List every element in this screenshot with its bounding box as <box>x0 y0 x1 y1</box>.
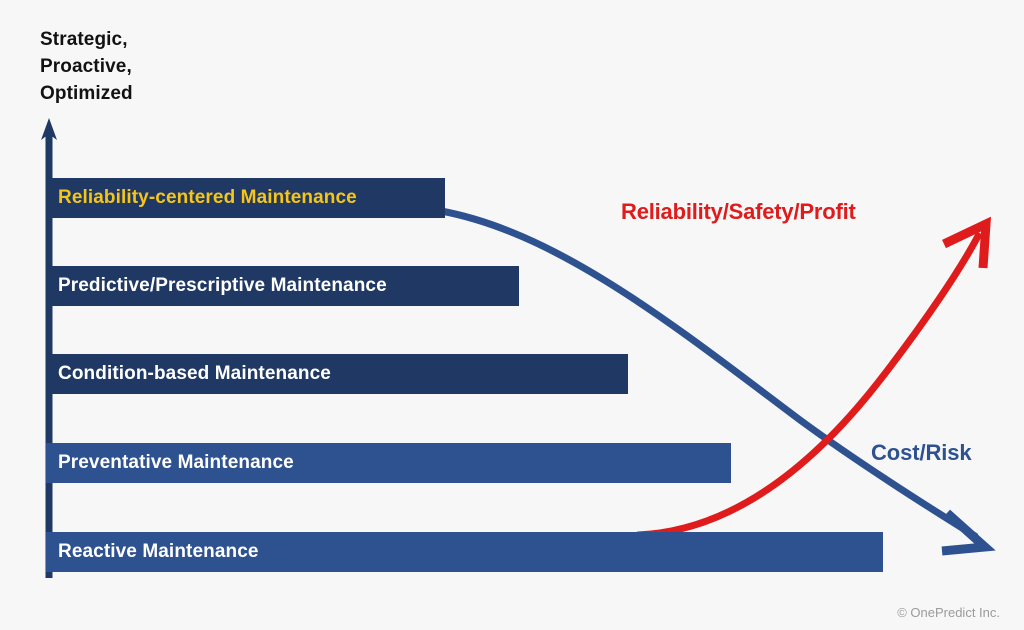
bar-label: Reliability-centered Maintenance <box>58 187 357 209</box>
bar-label: Condition-based Maintenance <box>58 363 331 385</box>
axis-caption: Strategic, Proactive, Optimized <box>40 26 133 107</box>
bar-4[interactable]: Reactive Maintenance <box>46 532 883 572</box>
arrow-down-right-icon <box>942 513 985 551</box>
bar-label: Preventative Maintenance <box>58 452 294 474</box>
bar-0[interactable]: Reliability-centered Maintenance <box>46 178 445 218</box>
bar-3[interactable]: Preventative Maintenance <box>46 443 731 483</box>
bar-label: Predictive/Prescriptive Maintenance <box>58 275 387 297</box>
bar-1[interactable]: Predictive/Prescriptive Maintenance <box>46 266 519 306</box>
annotation-reliability-safety-profit: Reliability/Safety/Profit <box>621 199 856 225</box>
reliability-profit-curve <box>638 224 986 535</box>
bar-label: Reactive Maintenance <box>58 541 259 563</box>
bar-2[interactable]: Condition-based Maintenance <box>46 354 628 394</box>
copyright-credit: © OnePredict Inc. <box>897 605 1000 620</box>
annotation-cost-risk: Cost/Risk <box>871 440 972 466</box>
